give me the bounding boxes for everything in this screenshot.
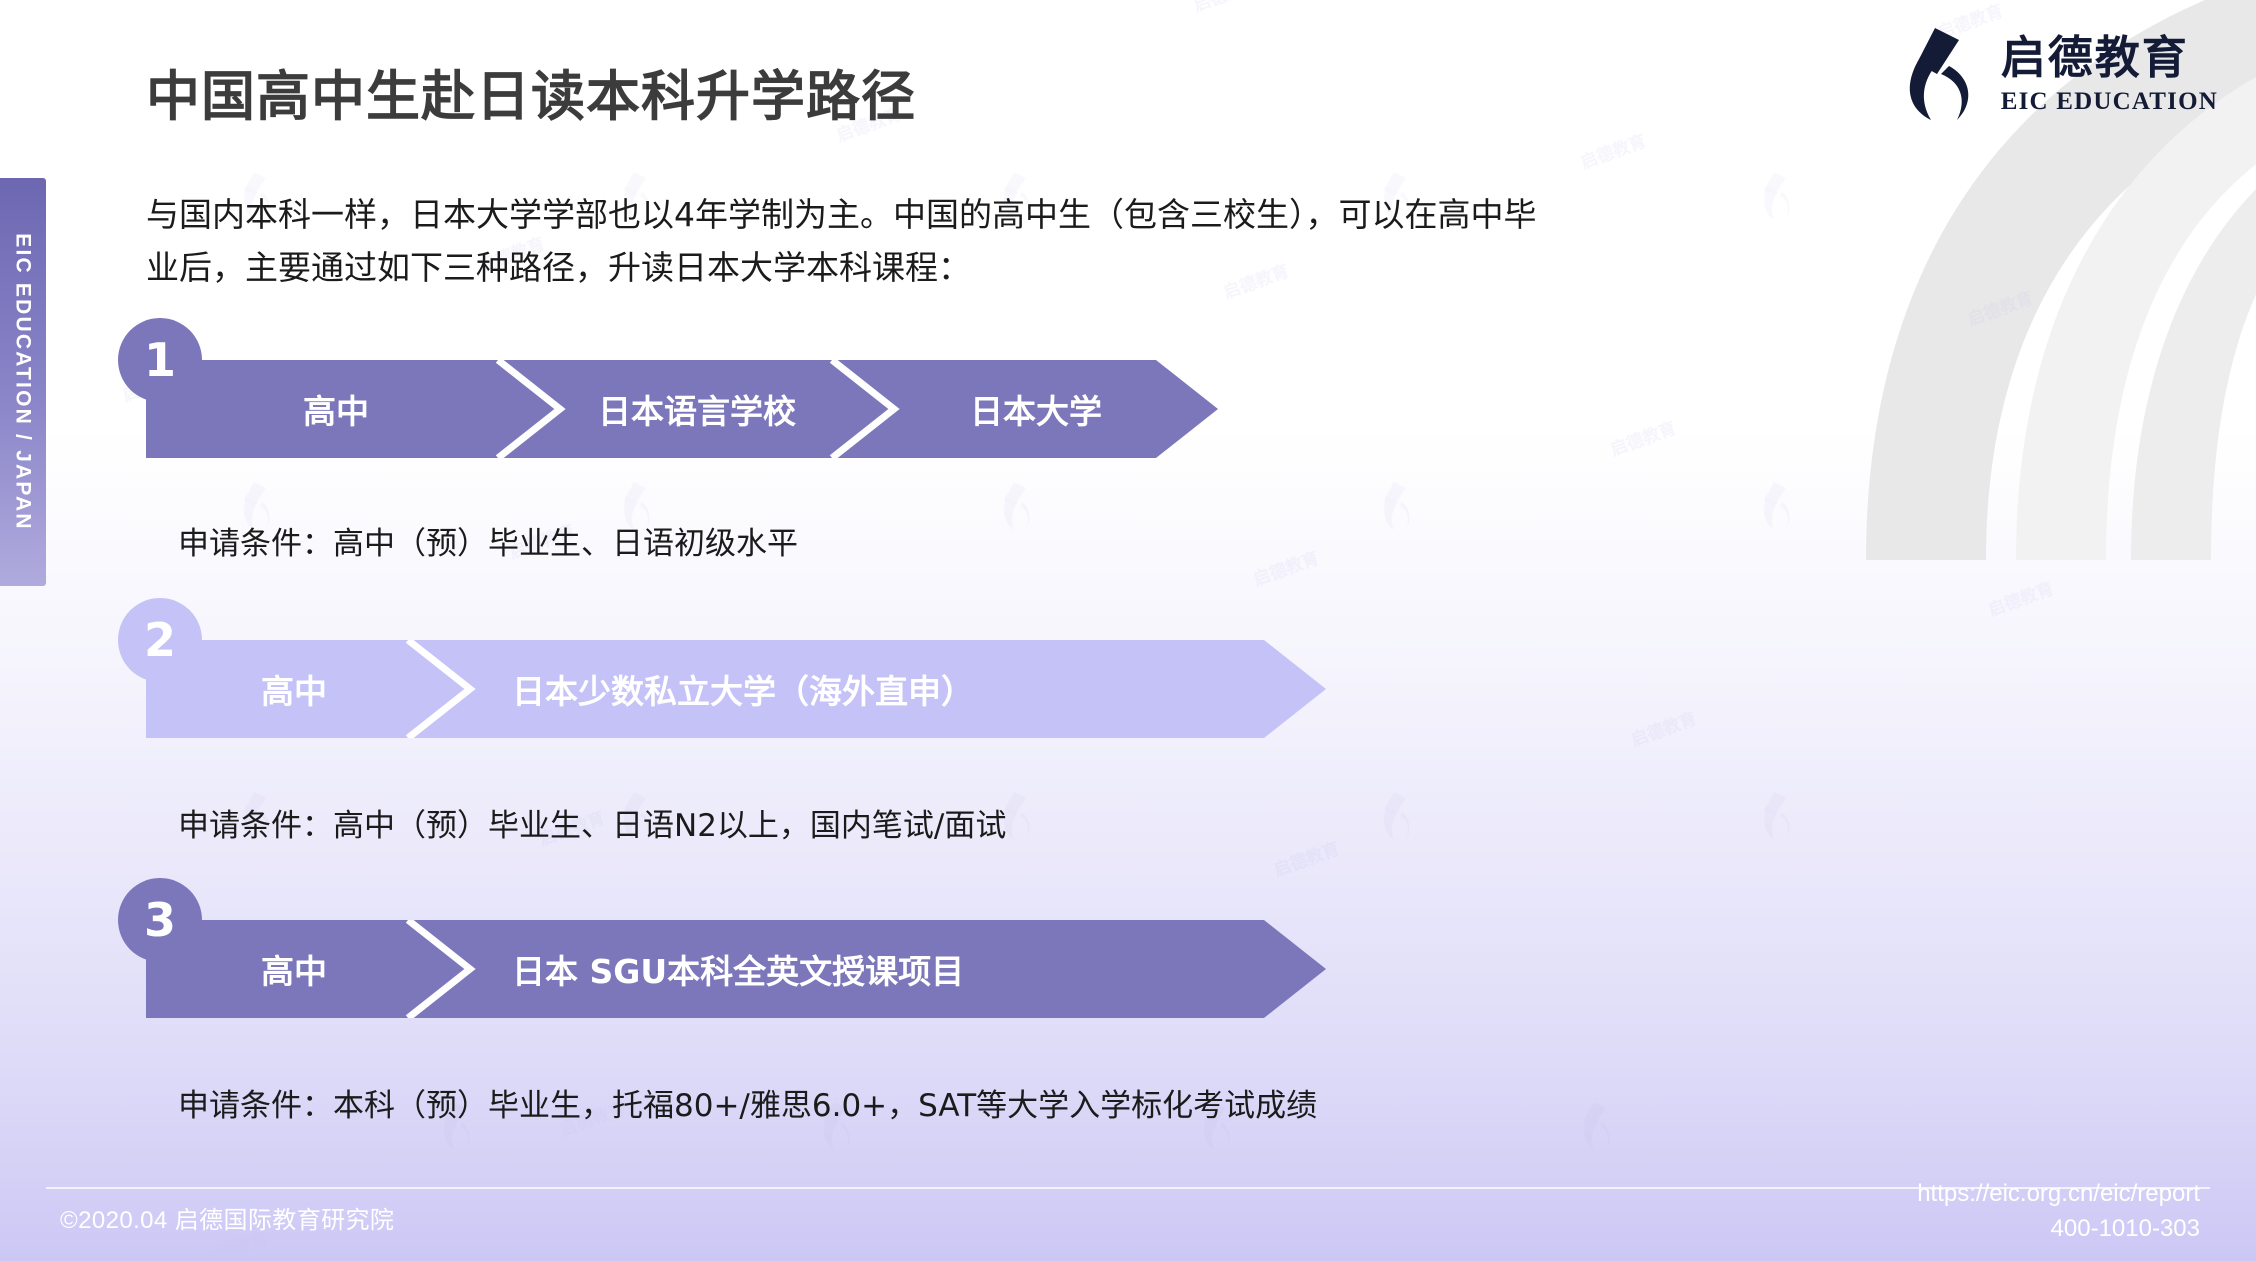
- path-number-badge-1: 1: [118, 318, 202, 402]
- logo-chinese-name: 启德教育: [2001, 35, 2218, 80]
- footer-divider: [46, 1187, 2210, 1189]
- footer-copyright: ©2020.04 启德国际教育研究院: [60, 1200, 394, 1235]
- footer-url[interactable]: https://eic.org.cn/eic/report: [1917, 1177, 2200, 1212]
- path-3-condition: 申请条件：本科（预）毕业生，托福80+/雅思6.0+，SAT等大学入学标化考试成…: [178, 1080, 1317, 1125]
- sidebar-label: EIC EDUCATION / JAPAN: [11, 233, 35, 530]
- intro-line-2: 业后，主要通过如下三种路径，升读日本大学本科课程：: [146, 241, 2136, 294]
- path-1-segment-3: 日本大学: [866, 360, 1206, 458]
- path-2-segment-2: 日本少数私立大学（海外直申）: [442, 640, 1262, 738]
- path-number-badge-2: 2: [118, 598, 202, 682]
- svg-text:启德教育: 启德教育: [1578, 130, 1649, 173]
- page-title: 中国高中生赴日读本科升学路径: [146, 52, 916, 131]
- path-number-badge-3: 3: [118, 878, 202, 962]
- path-1-segment-1: 高中: [146, 360, 526, 458]
- svg-text:启德教育: 启德教育: [1628, 708, 1699, 751]
- svg-text:启德教育: 启德教育: [1271, 838, 1342, 881]
- svg-text:启德教育: 启德教育: [1985, 578, 2056, 621]
- svg-text:启德教育: 启德教育: [1191, 0, 1262, 16]
- svg-text:启德教育: 启德教育: [1608, 417, 1679, 460]
- eic-logo-mark-icon: [1897, 26, 1983, 122]
- svg-text:启德教育: 启德教育: [1251, 547, 1322, 590]
- footer-contact: https://eic.org.cn/eic/report 400-1010-3…: [1917, 1177, 2200, 1247]
- path-2-condition: 申请条件：高中（预）毕业生、日语N2以上，国内笔试/面试: [178, 800, 1006, 845]
- brand-logo: 启德教育 EIC EDUCATION: [1897, 26, 2218, 122]
- path-1-segment-2: 日本语言学校: [532, 360, 862, 458]
- path-3-segment-2: 日本 SGU本科全英文授课项目: [442, 920, 1262, 1018]
- path-1-condition: 申请条件：高中（预）毕业生、日语初级水平: [178, 518, 798, 563]
- footer-phone: 400-1010-303: [1917, 1212, 2200, 1247]
- slide-root: 启德教育启德教育启德教育启德教育启德教育 启德教育启德教育启德教育启德教育启德教…: [0, 0, 2256, 1261]
- sidebar-tab-japan: EIC EDUCATION / JAPAN: [0, 178, 46, 586]
- logo-english-name: EIC EDUCATION: [2001, 89, 2218, 114]
- intro-paragraph: 与国内本科一样，日本大学学部也以4年学制为主。中国的高中生（包含三校生），可以在…: [146, 188, 2136, 295]
- intro-line-1: 与国内本科一样，日本大学学部也以4年学制为主。中国的高中生（包含三校生），可以在…: [146, 188, 2136, 241]
